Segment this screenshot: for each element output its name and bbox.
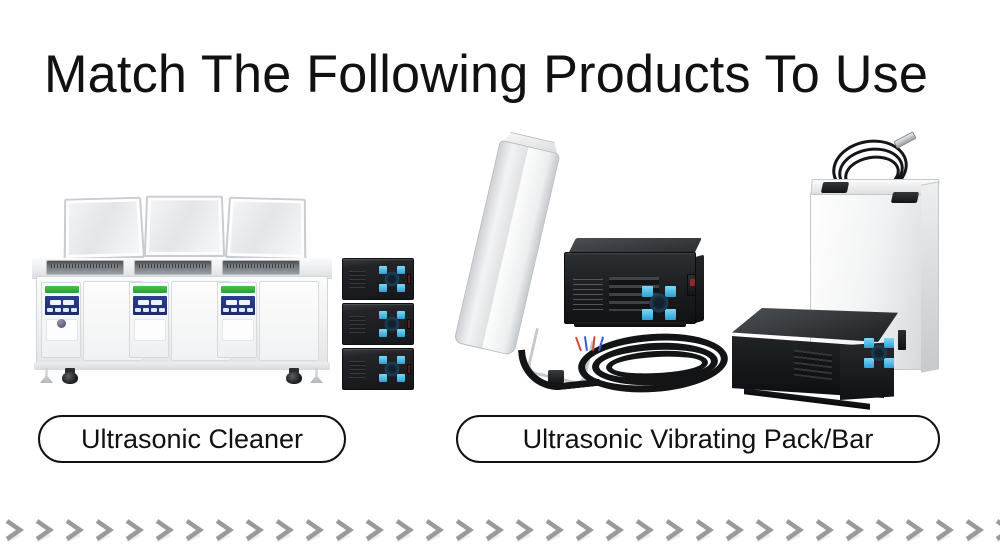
chevron-right-icon: [810, 515, 840, 545]
cable-connector-right: [891, 192, 919, 203]
chevron-right-icon: [0, 515, 30, 545]
chevron-right-icon: [510, 515, 540, 545]
chevron-right-icon: [210, 515, 240, 545]
cleaner-cabinet: [36, 276, 328, 364]
chevron-right-icon: [60, 515, 90, 545]
chevron-right-icon: [240, 515, 270, 545]
cable-plug: [893, 131, 916, 148]
chevron-right-icon: [630, 515, 660, 545]
power-rocker-switch: [898, 330, 906, 350]
chevron-right-icon: [960, 515, 990, 545]
product-label-text: Ultrasonic Cleaner: [81, 424, 303, 455]
product-banner: Match The Following Products To Use: [0, 0, 1000, 557]
ultrasonic-generator-middle: [564, 238, 702, 338]
panel-display: [45, 296, 79, 315]
panel-green-bar: [221, 286, 255, 293]
tank-lid-1: [64, 197, 145, 260]
chevron-right-icon: [570, 515, 600, 545]
tank-opening-2: [134, 260, 212, 275]
fan-grille-icon: [379, 266, 405, 292]
panel-label: [222, 319, 254, 341]
chevron-right-icon: [360, 515, 390, 545]
product-image-ultrasonic-cleaner: [24, 192, 340, 392]
cable-connector-left: [821, 182, 849, 193]
chevron-right-icon: [900, 515, 930, 545]
chevron-right-icon: [390, 515, 420, 545]
chevron-right-icon: [480, 515, 510, 545]
product-label-text: Ultrasonic Vibrating Pack/Bar: [523, 424, 874, 455]
generator-front-face: [564, 252, 696, 324]
chevron-right-icon: [990, 515, 1000, 545]
ultrasonic-generator-right: [732, 308, 908, 410]
generator-pack-3: [342, 348, 414, 390]
power-switch: [407, 319, 411, 329]
panel-green-bar: [133, 286, 167, 293]
panel-green-bar: [45, 286, 79, 293]
tank-opening-3: [222, 260, 300, 275]
vent-slots: [349, 316, 365, 334]
leveling-foot-right: [310, 368, 323, 383]
product-label-ultrasonic-cleaner[interactable]: Ultrasonic Cleaner: [38, 415, 346, 463]
vent-slots: [349, 361, 365, 379]
immersible-vibrating-bar: [453, 140, 560, 357]
control-panel-1: [41, 282, 81, 358]
power-switch: [407, 364, 411, 374]
vent-slots: [349, 271, 365, 289]
chevron-right-icon: [720, 515, 750, 545]
chevron-right-icon: [660, 515, 690, 545]
chevron-right-icon: [150, 515, 180, 545]
stacked-generator-packs: [342, 258, 414, 390]
chevron-right-icon: [600, 515, 630, 545]
chevron-right-icon: [330, 515, 360, 545]
vent-slots: [794, 350, 832, 381]
chevron-divider: [0, 509, 1000, 551]
generator-pack-2: [342, 303, 414, 345]
chevron-right-icon: [420, 515, 450, 545]
chevron-right-icon: [780, 515, 810, 545]
cabinet-door-3: [259, 281, 319, 361]
product-label-vibrating-pack-bar[interactable]: Ultrasonic Vibrating Pack/Bar: [456, 415, 940, 463]
chevron-right-icon: [270, 515, 300, 545]
chevron-right-icon: [840, 515, 870, 545]
chevron-right-icon: [690, 515, 720, 545]
chevron-right-icon: [300, 515, 330, 545]
fan-grille-icon: [642, 286, 676, 320]
power-rocker-switch: [687, 274, 696, 296]
fan-grille-icon: [379, 356, 405, 382]
chevron-right-icon: [180, 515, 210, 545]
chevron-right-icon: [90, 515, 120, 545]
power-switch: [407, 274, 411, 284]
generator-base: [574, 322, 686, 327]
tank-lid-2: [144, 196, 225, 257]
leveling-foot-left: [40, 368, 53, 383]
generator-label-text: [573, 279, 603, 311]
chevron-right-icon: [750, 515, 780, 545]
chevron-right-icon: [930, 515, 960, 545]
control-panel-2: [129, 282, 169, 358]
page-title: Match The Following Products To Use: [44, 44, 942, 106]
tank-lid-3: [225, 197, 306, 260]
chevron-right-icon: [450, 515, 480, 545]
fan-grille-icon: [379, 311, 405, 337]
cable-wire-leads: [576, 336, 606, 356]
chevron-right-icon: [120, 515, 150, 545]
chevron-right-icon: [540, 515, 570, 545]
plate-pack-edge: [921, 181, 939, 372]
panel-knob: [57, 319, 66, 328]
panel-display: [221, 296, 255, 315]
tank-opening-1: [46, 260, 124, 275]
panel-display: [133, 296, 167, 315]
caster-wheel-right: [286, 368, 302, 384]
coiled-power-cable: [520, 330, 750, 410]
panel-label: [134, 319, 166, 341]
control-panel-3: [217, 282, 257, 358]
chevron-right-icon: [30, 515, 60, 545]
caster-wheel-left: [62, 368, 78, 384]
generator-pack-1: [342, 258, 414, 300]
fan-grille-icon: [864, 338, 894, 368]
generator-top-face: [732, 308, 898, 342]
chevron-right-icon: [870, 515, 900, 545]
